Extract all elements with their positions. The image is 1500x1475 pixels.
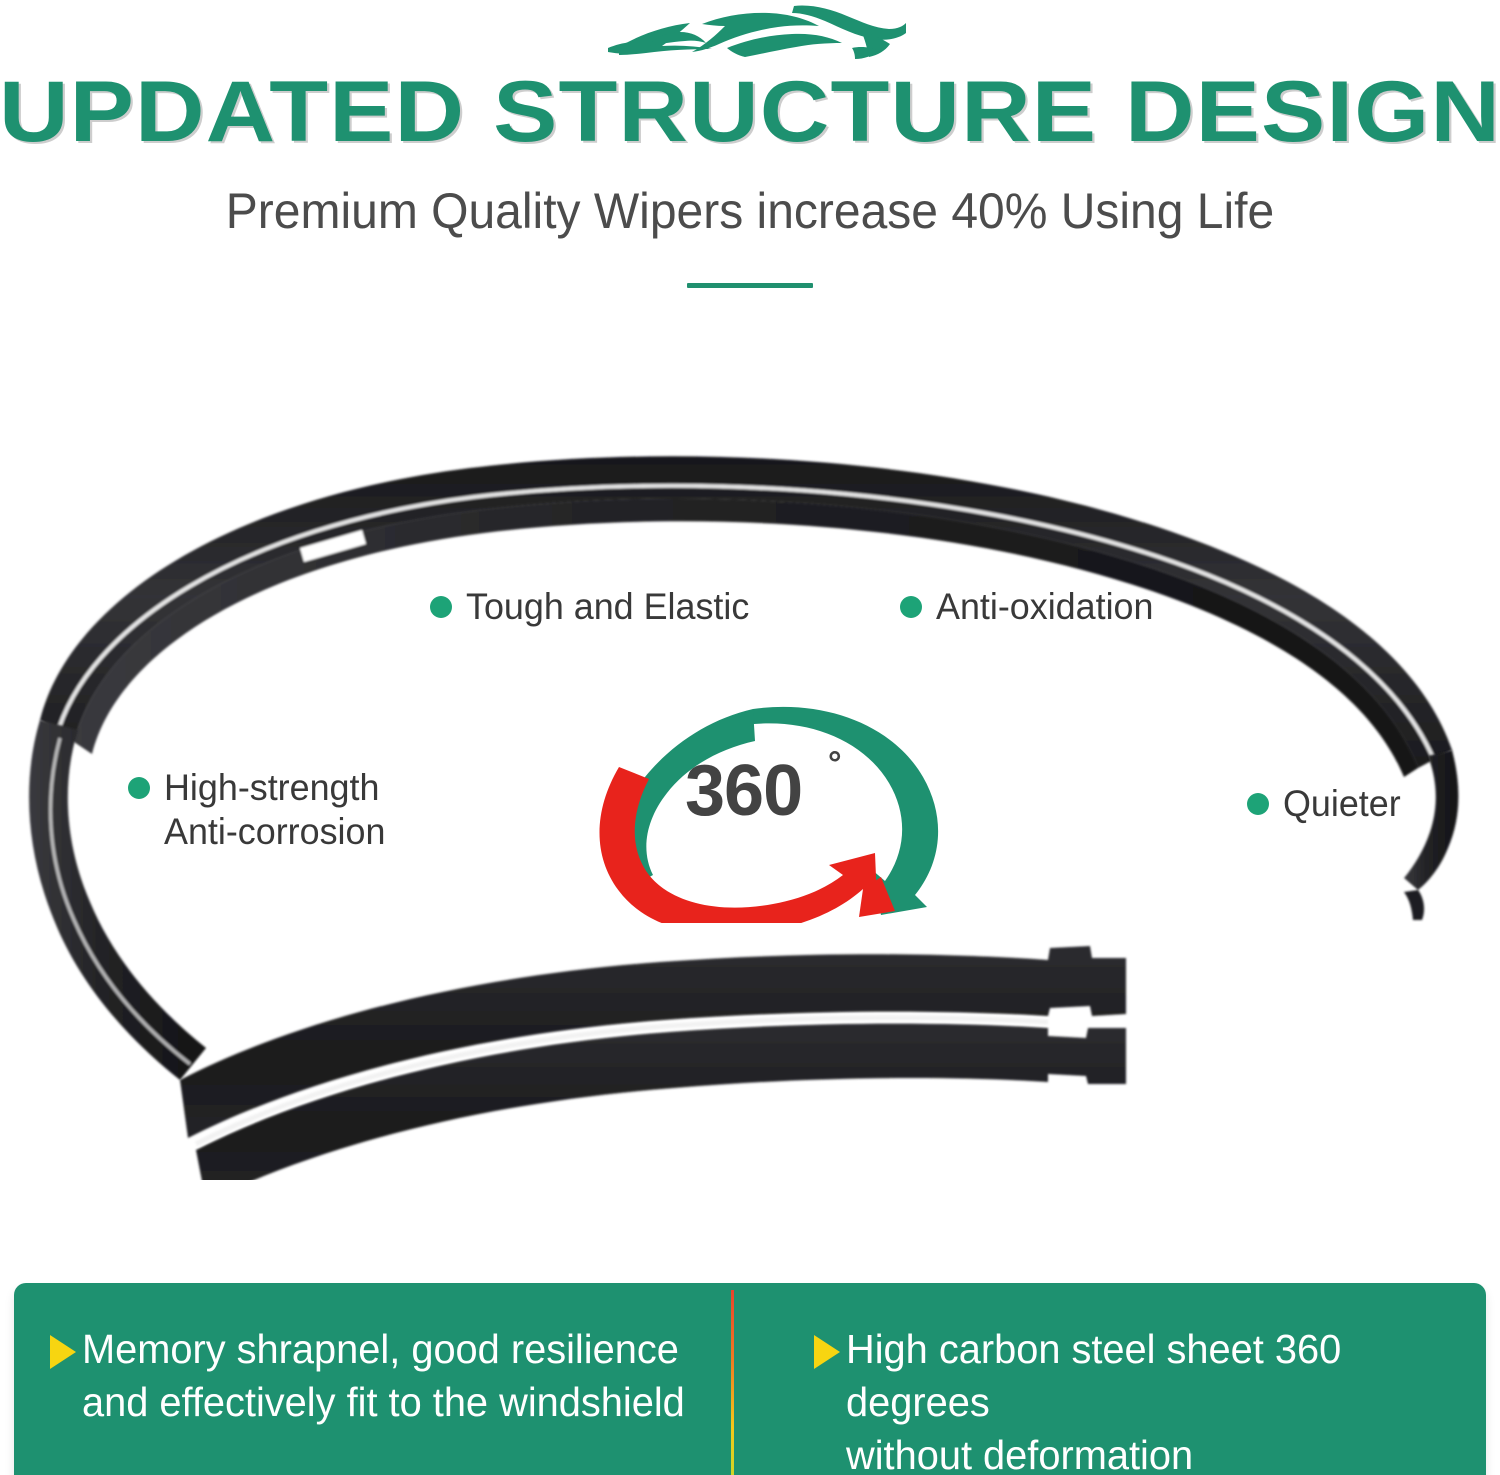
bullet-dot-icon: [128, 777, 150, 799]
banner-gradient-divider: [731, 1290, 734, 1475]
feature-callout-anti-oxidation: Anti-oxidation: [900, 585, 1160, 629]
feature-label: Quieter: [1283, 782, 1401, 826]
triangle-bullet-icon: [814, 1335, 840, 1369]
feature-label: High-strength Anti-corrosion: [164, 766, 385, 854]
banner-item-high-carbon-steel: High carbon steel sheet 360 degrees with…: [750, 1283, 1486, 1475]
banner-item-text: High carbon steel sheet 360 degrees with…: [846, 1323, 1442, 1475]
bottom-feature-banner: Memory shrapnel, good resilience and eff…: [14, 1283, 1486, 1475]
badge-value: 360: [685, 755, 802, 827]
banner-item-memory-shrapnel: Memory shrapnel, good resilience and eff…: [14, 1283, 750, 1475]
bullet-dot-icon: [430, 596, 452, 618]
bullet-dot-icon: [900, 596, 922, 618]
feature-label: Tough and Elastic: [466, 585, 749, 629]
feature-label: Anti-oxidation: [936, 585, 1153, 629]
sports-car-silhouette-icon: [606, 4, 906, 66]
feature-callout-quieter: Quieter: [1247, 782, 1404, 826]
title-divider-rule: [687, 283, 813, 288]
banner-item-text: Memory shrapnel, good resilience and eff…: [82, 1323, 685, 1429]
feature-callout-high-strength-anti-corrosion: High-strength Anti-corrosion: [128, 766, 392, 854]
degree-symbol: °: [828, 747, 842, 781]
feature-callout-tough-and-elastic: Tough and Elastic: [430, 585, 758, 629]
infographic-page: UPDATED STRUCTURE DESIGN Premium Quality…: [0, 0, 1500, 1475]
triangle-bullet-icon: [50, 1335, 76, 1369]
bullet-dot-icon: [1247, 793, 1269, 815]
page-subtitle: Premium Quality Wipers increase 40% Usin…: [30, 180, 1470, 242]
360-degree-badge: 360 °: [575, 693, 965, 923]
page-title: UPDATED STRUCTURE DESIGN: [0, 66, 1500, 158]
